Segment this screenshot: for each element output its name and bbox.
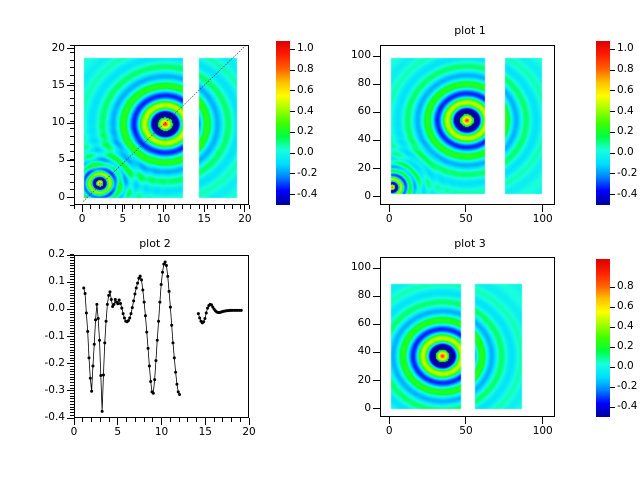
y-minor-tick: [70, 371, 74, 372]
x-minor-tick: [199, 205, 200, 209]
y-major-tick: [67, 48, 74, 49]
x-major-tick: [205, 418, 206, 425]
subplot-title-bottom-left: plot 2: [60, 238, 250, 250]
x-minor-tick: [187, 418, 188, 422]
colorbar-tick: [610, 111, 615, 112]
colorbar-tick-label: 0.4: [617, 106, 634, 117]
x-tick-label: 20: [229, 427, 269, 438]
diagonal-ray-overlay: [75, 46, 249, 205]
y-minor-tick: [70, 260, 74, 261]
x-major-tick: [117, 418, 118, 425]
colorbar-tick-label: 1.0: [297, 43, 314, 54]
y-minor-tick: [70, 312, 74, 313]
y-minor-tick: [70, 331, 74, 332]
y-minor-tick: [70, 407, 74, 408]
y-major-tick: [373, 84, 380, 85]
y-major-tick: [373, 380, 380, 381]
x-tick-label: 0: [62, 214, 102, 225]
heatmap-field-bottom-right: [381, 258, 555, 417]
y-minor-tick: [70, 182, 74, 183]
x-major-tick: [542, 417, 543, 424]
line-series-bottom-left: [75, 256, 249, 418]
y-minor-tick: [70, 276, 74, 277]
x-minor-tick: [144, 418, 145, 422]
x-tick-label: 50: [446, 214, 486, 225]
colorbar-tick: [290, 153, 295, 154]
colorbar-tick-label: 0.6: [617, 85, 634, 96]
y-tick-label: 5: [19, 154, 65, 165]
y-major-tick: [67, 336, 74, 337]
colorbar-tick-label: 0.8: [617, 281, 634, 292]
x-minor-tick: [214, 418, 215, 422]
y-minor-tick: [70, 388, 74, 389]
y-tick-label: 0.0: [19, 303, 65, 314]
axes-bottom-left: [74, 255, 249, 418]
y-tick-label: 100: [325, 262, 371, 273]
y-minor-tick: [70, 113, 74, 114]
x-tick-label: 100: [523, 214, 563, 225]
x-major-tick: [82, 205, 83, 212]
x-minor-tick: [231, 418, 232, 422]
x-minor-tick: [249, 205, 250, 209]
x-minor-tick: [224, 205, 225, 209]
y-minor-tick: [70, 166, 74, 167]
y-minor-tick: [70, 271, 74, 272]
x-tick-label: 0: [54, 427, 94, 438]
y-minor-tick: [70, 45, 74, 46]
x-minor-tick: [91, 418, 92, 422]
y-minor-tick: [70, 151, 74, 152]
y-minor-tick: [70, 293, 74, 294]
y-tick-label: 0.1: [19, 276, 65, 287]
y-minor-tick: [70, 401, 74, 402]
colorbar-tick: [610, 194, 615, 195]
y-minor-tick: [70, 341, 74, 342]
x-minor-tick: [240, 205, 241, 209]
y-minor-tick: [70, 374, 74, 375]
y-tick-label: 0: [19, 192, 65, 203]
colorbar-tick-label: -0.4: [617, 189, 638, 200]
y-minor-tick: [70, 75, 74, 76]
colorbar-tick-label: -0.4: [617, 401, 638, 412]
y-minor-tick: [70, 325, 74, 326]
y-minor-tick: [70, 174, 74, 175]
colorbar-tick: [610, 173, 615, 174]
x-minor-tick: [152, 418, 153, 422]
y-major-tick: [67, 390, 74, 391]
y-minor-tick: [70, 144, 74, 145]
y-minor-tick: [70, 268, 74, 269]
y-minor-tick: [70, 415, 74, 416]
subplot-bottom-left: plot 2 051015200.20.10.0-0.1-0.2-0.3-0.4: [0, 235, 320, 480]
x-major-tick: [389, 417, 390, 424]
x-tick-label: 5: [98, 427, 138, 438]
colorbar-tick-label: -0.2: [617, 381, 638, 392]
y-tick-label: 60: [325, 318, 371, 329]
colorbar-tick-label: -0.2: [617, 168, 638, 179]
axes-top-left: [74, 45, 249, 205]
y-minor-tick: [70, 328, 74, 329]
y-minor-tick: [70, 322, 74, 323]
y-minor-tick: [70, 379, 74, 380]
y-major-tick: [67, 363, 74, 364]
subplot-title-bottom-right: plot 3: [375, 238, 565, 250]
y-minor-tick: [70, 355, 74, 356]
x-minor-tick: [190, 205, 191, 209]
y-minor-tick: [70, 67, 74, 68]
y-minor-tick: [70, 350, 74, 351]
x-minor-tick: [240, 418, 241, 422]
x-major-tick: [389, 205, 390, 212]
x-minor-tick: [124, 205, 125, 209]
colorbar-tick: [610, 327, 615, 328]
y-minor-tick: [70, 98, 74, 99]
x-minor-tick: [126, 418, 127, 422]
y-tick-label: 80: [325, 78, 371, 89]
y-major-tick: [373, 408, 380, 409]
x-major-tick: [249, 418, 250, 425]
x-major-tick: [161, 418, 162, 425]
subplot-top-right: plot 1 050100020406080100 1.00.80.60.40.…: [320, 0, 640, 235]
y-tick-label: -0.3: [19, 385, 65, 396]
colorbar-tick-label: 0.8: [297, 64, 314, 75]
colorbar-top-right: [596, 41, 610, 205]
x-tick-label: 0: [369, 214, 409, 225]
y-minor-tick: [70, 295, 74, 296]
x-minor-tick: [135, 418, 136, 422]
colorbar-tick-label: 0.0: [297, 147, 314, 158]
y-major-tick: [373, 140, 380, 141]
y-minor-tick: [70, 393, 74, 394]
y-minor-tick: [70, 344, 74, 345]
colorbar-tick-label: 0.6: [617, 301, 634, 312]
y-major-tick: [67, 123, 74, 124]
axes-bottom-right: [380, 257, 555, 417]
y-tick-label: 20: [19, 43, 65, 54]
y-minor-tick: [70, 369, 74, 370]
y-major-tick: [373, 168, 380, 169]
x-minor-tick: [232, 205, 233, 209]
y-minor-tick: [70, 320, 74, 321]
colorbar-top-left: [276, 41, 290, 205]
colorbar-tick: [290, 132, 295, 133]
colorbar-tick: [610, 90, 615, 91]
y-minor-tick: [70, 382, 74, 383]
x-minor-tick: [90, 205, 91, 209]
y-minor-tick: [70, 347, 74, 348]
y-minor-tick: [70, 409, 74, 410]
colorbar-tick-label: 0.2: [297, 126, 314, 137]
y-tick-label: -0.2: [19, 358, 65, 369]
colorbar-tick-label: 0.6: [297, 85, 314, 96]
y-minor-tick: [70, 60, 74, 61]
colorbar-tick-label: 0.0: [617, 361, 634, 372]
y-tick-label: 80: [325, 290, 371, 301]
y-minor-tick: [70, 314, 74, 315]
y-minor-tick: [70, 105, 74, 106]
y-minor-tick: [70, 90, 74, 91]
y-minor-tick: [70, 290, 74, 291]
y-minor-tick: [70, 279, 74, 280]
x-tick-label: 15: [185, 427, 225, 438]
x-minor-tick: [132, 205, 133, 209]
y-major-tick: [67, 255, 74, 256]
x-minor-tick: [82, 418, 83, 422]
y-tick-label: 20: [325, 163, 371, 174]
y-minor-tick: [70, 360, 74, 361]
y-minor-tick: [70, 274, 74, 275]
colorbar-tick: [290, 90, 295, 91]
x-minor-tick: [140, 205, 141, 209]
x-tick-label: 50: [446, 426, 486, 437]
y-minor-tick: [70, 265, 74, 266]
x-tick-label: 15: [184, 214, 224, 225]
y-minor-tick: [70, 358, 74, 359]
y-major-tick: [373, 352, 380, 353]
x-minor-tick: [179, 418, 180, 422]
colorbar-tick-label: -0.2: [297, 168, 318, 179]
colorbar-tick: [290, 173, 295, 174]
y-minor-tick: [70, 396, 74, 397]
x-major-tick: [74, 418, 75, 425]
colorbar-tick: [610, 307, 615, 308]
y-minor-tick: [70, 377, 74, 378]
subplot-top-left: 0510152005101520 1.00.80.60.40.20.0-0.2-…: [0, 0, 320, 235]
y-minor-tick: [70, 287, 74, 288]
y-minor-tick: [70, 398, 74, 399]
x-minor-tick: [149, 205, 150, 209]
y-major-tick: [67, 197, 74, 198]
colorbar-tick: [610, 70, 615, 71]
x-tick-label: 100: [523, 426, 563, 437]
colorbar-tick-label: 1.0: [617, 43, 634, 54]
x-major-tick: [163, 205, 164, 212]
y-minor-tick: [70, 412, 74, 413]
colorbar-tick: [610, 367, 615, 368]
subplot-title-top-right: plot 1: [375, 25, 565, 37]
colorbar-tick: [290, 70, 295, 71]
colorbar-tick: [290, 194, 295, 195]
y-major-tick: [67, 309, 74, 310]
colorbar-tick: [610, 132, 615, 133]
y-major-tick: [373, 196, 380, 197]
x-minor-tick: [115, 205, 116, 209]
x-minor-tick: [99, 205, 100, 209]
colorbar-tick: [610, 49, 615, 50]
y-minor-tick: [70, 263, 74, 264]
y-minor-tick: [70, 298, 74, 299]
colorbar-tick: [610, 153, 615, 154]
colorbar-tick: [290, 49, 295, 50]
y-minor-tick: [70, 121, 74, 122]
colorbar-tick-label: 0.2: [617, 126, 634, 137]
x-minor-tick: [107, 205, 108, 209]
heatmap-field-top-right: [381, 46, 555, 205]
y-minor-tick: [70, 257, 74, 258]
colorbar-tick-label: 0.8: [617, 64, 634, 75]
y-major-tick: [67, 160, 74, 161]
colorbar-tick-label: 0.4: [297, 106, 314, 117]
colorbar-tick-label: 0.4: [617, 321, 634, 332]
y-minor-tick: [70, 83, 74, 84]
colorbar-tick: [290, 111, 295, 112]
colorbar-gradient-bottom-right: [596, 259, 610, 417]
y-minor-tick: [70, 205, 74, 206]
x-minor-tick: [109, 418, 110, 422]
y-tick-label: -0.4: [19, 412, 65, 423]
y-tick-label: 10: [19, 117, 65, 128]
x-minor-tick: [157, 205, 158, 209]
colorbar-tick: [610, 287, 615, 288]
x-minor-tick: [182, 205, 183, 209]
colorbar-tick-label: -0.4: [297, 189, 318, 200]
figure-canvas: 0510152005101520 1.00.80.60.40.20.0-0.2-…: [0, 0, 640, 480]
y-tick-label: 40: [325, 346, 371, 357]
y-tick-label: 100: [325, 50, 371, 61]
y-minor-tick: [70, 333, 74, 334]
colorbar-gradient-top-right: [596, 41, 610, 205]
y-tick-label: 0.2: [19, 249, 65, 260]
y-minor-tick: [70, 189, 74, 190]
x-major-tick: [122, 205, 123, 212]
x-minor-tick: [207, 205, 208, 209]
y-minor-tick: [70, 404, 74, 405]
y-tick-label: 0: [325, 191, 371, 202]
y-minor-tick: [70, 306, 74, 307]
y-minor-tick: [70, 385, 74, 386]
y-minor-tick: [70, 301, 74, 302]
colorbar-gradient-top-left: [276, 41, 290, 205]
x-tick-label: 10: [142, 427, 182, 438]
x-minor-tick: [215, 205, 216, 209]
x-minor-tick: [165, 205, 166, 209]
x-minor-tick: [196, 418, 197, 422]
x-minor-tick: [100, 418, 101, 422]
y-minor-tick: [70, 352, 74, 353]
y-tick-label: 15: [19, 80, 65, 91]
y-minor-tick: [70, 136, 74, 137]
x-tick-label: 10: [144, 214, 184, 225]
x-tick-label: 20: [225, 214, 265, 225]
colorbar-tick: [610, 387, 615, 388]
x-tick-label: 5: [103, 214, 143, 225]
y-minor-tick: [70, 303, 74, 304]
colorbar-tick-label: 0.2: [617, 341, 634, 352]
y-major-tick: [67, 418, 74, 419]
x-major-tick: [542, 205, 543, 212]
y-minor-tick: [70, 339, 74, 340]
y-tick-label: -0.1: [19, 331, 65, 342]
y-tick-label: 60: [325, 106, 371, 117]
x-major-tick: [204, 205, 205, 212]
y-major-tick: [373, 112, 380, 113]
y-major-tick: [373, 268, 380, 269]
y-minor-tick: [70, 317, 74, 318]
x-major-tick: [465, 417, 466, 424]
x-major-tick: [465, 205, 466, 212]
colorbar-tick: [610, 347, 615, 348]
subplot-bottom-right: plot 3 050100020406080100 0.80.60.40.20.…: [320, 235, 640, 480]
y-major-tick: [67, 85, 74, 86]
x-minor-tick: [74, 205, 75, 209]
x-minor-tick: [222, 418, 223, 422]
y-major-tick: [373, 324, 380, 325]
colorbar-tick-label: 0.0: [617, 147, 634, 158]
y-minor-tick: [70, 284, 74, 285]
colorbar-bottom-right: [596, 259, 610, 417]
y-major-tick: [373, 56, 380, 57]
y-minor-tick: [70, 128, 74, 129]
x-minor-tick: [170, 418, 171, 422]
y-tick-label: 0: [325, 403, 371, 414]
x-minor-tick: [174, 205, 175, 209]
x-tick-label: 0: [369, 426, 409, 437]
y-major-tick: [67, 282, 74, 283]
y-minor-tick: [70, 52, 74, 53]
y-tick-label: 40: [325, 134, 371, 145]
x-major-tick: [244, 205, 245, 212]
y-tick-label: 20: [325, 375, 371, 386]
axes-top-right: [380, 45, 555, 205]
colorbar-tick: [610, 407, 615, 408]
y-minor-tick: [70, 366, 74, 367]
y-major-tick: [373, 296, 380, 297]
